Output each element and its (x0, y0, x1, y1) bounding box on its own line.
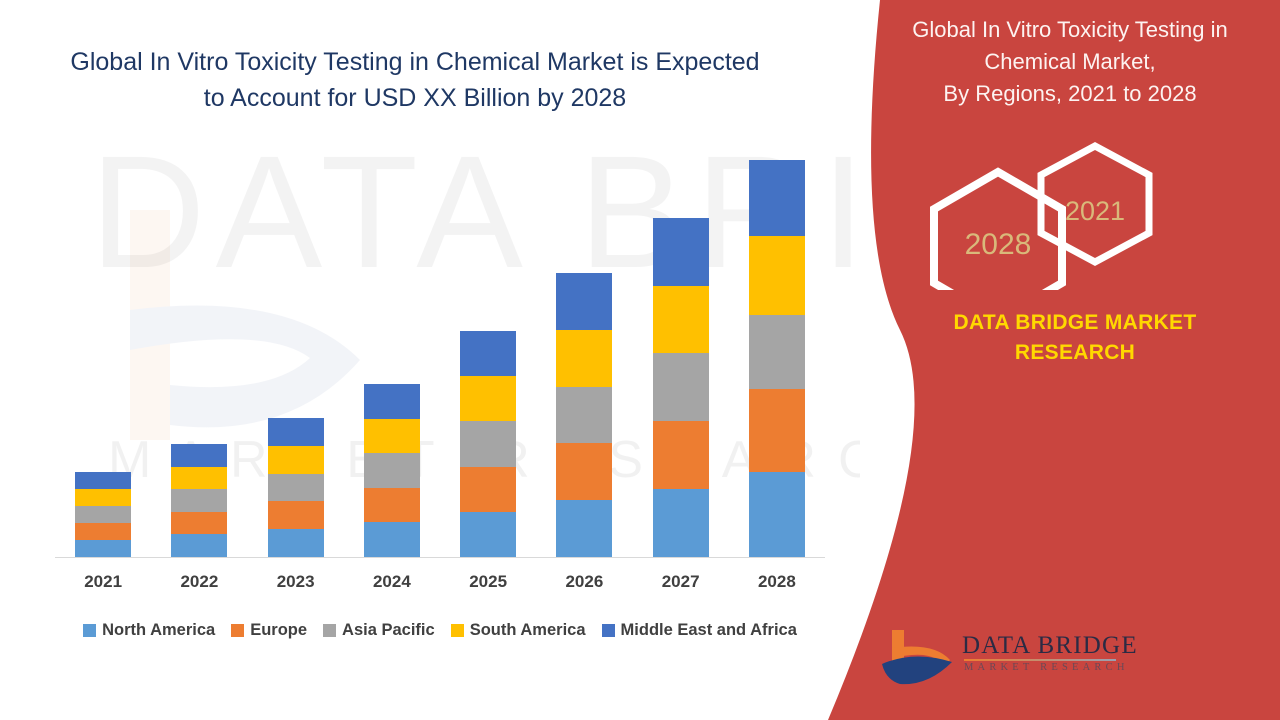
chart-title: Global In Vitro Toxicity Testing in Chem… (55, 44, 775, 116)
chart-title-line-2: to Account for USD XX Billion by 2028 (204, 84, 626, 112)
bar-segment[interactable] (653, 286, 709, 354)
bar-segment[interactable] (75, 489, 131, 506)
bar-segment[interactable] (653, 353, 709, 421)
legend-label: North America (102, 621, 215, 640)
brand-line-2: RESEARCH (1015, 341, 1135, 364)
x-axis-label-2026: 2026 (536, 572, 632, 600)
bar-column-2026 (536, 150, 632, 557)
hexagon-left-label: 2028 (965, 228, 1032, 261)
bar-column-2028 (729, 150, 825, 557)
hexagon-pair-icon: 2021 2028 (920, 140, 1240, 290)
legend-label: South America (470, 621, 586, 640)
brand-name: DATA BRIDGE MARKET RESEARCH (910, 308, 1240, 368)
stacked-bar-2023[interactable] (268, 418, 324, 557)
bar-segment[interactable] (556, 273, 612, 330)
stacked-bar-2025[interactable] (460, 331, 516, 557)
bar-segment[interactable] (460, 512, 516, 557)
stacked-bar-2024[interactable] (364, 384, 420, 557)
x-axis-label-2025: 2025 (440, 572, 536, 600)
legend-item-north-america[interactable]: North America (83, 621, 215, 640)
bar-segment[interactable] (556, 330, 612, 387)
bar-segment[interactable] (460, 421, 516, 466)
bar-segment[interactable] (556, 387, 612, 444)
bar-segment[interactable] (364, 488, 420, 523)
x-axis-label-2021: 2021 (55, 572, 151, 600)
bar-segment[interactable] (749, 472, 805, 557)
x-axis-line (55, 557, 825, 558)
hexagon-right-label: 2021 (1065, 196, 1125, 226)
chart-title-line-1: Global In Vitro Toxicity Testing in Chem… (70, 48, 759, 76)
side-title-line-3: By Regions, 2021 to 2028 (943, 81, 1196, 106)
bar-segment[interactable] (653, 421, 709, 489)
x-axis-label-2027: 2027 (633, 572, 729, 600)
x-axis-label-2022: 2022 (151, 572, 247, 600)
stacked-bar-2028[interactable] (749, 160, 805, 557)
bar-column-2023 (248, 150, 344, 557)
bar-segment[interactable] (556, 500, 612, 557)
stacked-bar-2022[interactable] (171, 444, 227, 557)
legend-swatch-icon (83, 624, 96, 637)
stacked-bar-2021[interactable] (75, 472, 131, 557)
bar-segment[interactable] (460, 376, 516, 421)
logo-tagline: MARKET RESEARCH (964, 662, 1129, 673)
bar-segment[interactable] (268, 446, 324, 474)
bar-segment[interactable] (75, 523, 131, 540)
legend-item-europe[interactable]: Europe (231, 621, 307, 640)
bar-segment[interactable] (171, 444, 227, 467)
bar-segment[interactable] (75, 540, 131, 557)
x-axis-label-2028: 2028 (729, 572, 825, 600)
logo-divider (964, 659, 1116, 661)
chart-panel: Global In Vitro Toxicity Testing in Chem… (0, 0, 860, 720)
bar-segment[interactable] (268, 474, 324, 502)
stacked-bar-2027[interactable] (653, 218, 709, 557)
bar-segment[interactable] (268, 418, 324, 446)
bar-segment[interactable] (749, 236, 805, 315)
legend-item-middle-east-and-africa[interactable]: Middle East and Africa (602, 621, 797, 640)
slide-canvas: DATA BRIDGE MARKET RESEARCH Global In Vi… (0, 0, 1280, 720)
bar-segment[interactable] (460, 467, 516, 512)
bar-segment[interactable] (171, 512, 227, 535)
bar-segment[interactable] (460, 331, 516, 376)
bar-group (55, 150, 825, 557)
data-bridge-logo-icon (880, 628, 956, 690)
legend-label: Europe (250, 621, 307, 640)
legend-label: Middle East and Africa (621, 621, 797, 640)
logo-wordmark: DATA BRIDGE (962, 632, 1138, 660)
x-axis-labels: 20212022202320242025202620272028 (55, 572, 825, 600)
bar-segment[interactable] (75, 506, 131, 523)
chart-legend: North AmericaEuropeAsia PacificSouth Ame… (55, 617, 825, 643)
bar-segment[interactable] (364, 522, 420, 557)
bar-segment[interactable] (653, 489, 709, 557)
bar-segment[interactable] (364, 384, 420, 419)
legend-swatch-icon (323, 624, 336, 637)
stacked-bar-2026[interactable] (556, 273, 612, 557)
legend-item-asia-pacific[interactable]: Asia Pacific (323, 621, 435, 640)
legend-swatch-icon (602, 624, 615, 637)
bar-segment[interactable] (171, 467, 227, 490)
bar-column-2025 (440, 150, 536, 557)
bar-column-2022 (151, 150, 247, 557)
side-title-line-2: Chemical Market, (984, 49, 1155, 74)
brand-side-content: Global In Vitro Toxicity Testing in Chem… (820, 0, 1280, 720)
side-panel-title: Global In Vitro Toxicity Testing in Chem… (880, 14, 1260, 110)
bar-segment[interactable] (749, 315, 805, 389)
bar-segment[interactable] (75, 472, 131, 489)
bar-column-2027 (633, 150, 729, 557)
bar-column-2024 (344, 150, 440, 557)
x-axis-label-2024: 2024 (344, 572, 440, 600)
bar-segment[interactable] (556, 443, 612, 500)
bar-column-2021 (55, 150, 151, 557)
bar-segment[interactable] (171, 489, 227, 512)
x-axis-label-2023: 2023 (248, 572, 344, 600)
brand-line-1: DATA BRIDGE MARKET (954, 311, 1197, 334)
legend-swatch-icon (451, 624, 464, 637)
bar-segment[interactable] (364, 419, 420, 454)
bar-segment[interactable] (364, 453, 420, 488)
side-title-line-1: Global In Vitro Toxicity Testing in (912, 17, 1228, 42)
bar-segment[interactable] (749, 389, 805, 472)
bar-segment[interactable] (268, 529, 324, 557)
bar-segment[interactable] (749, 160, 805, 236)
legend-label: Asia Pacific (342, 621, 435, 640)
year-hexagons: 2021 2028 (920, 140, 1240, 290)
legend-swatch-icon (231, 624, 244, 637)
legend-item-south-america[interactable]: South America (451, 621, 586, 640)
bar-segment[interactable] (653, 218, 709, 286)
company-logo: DATA BRIDGE MARKET RESEARCH (880, 628, 1140, 700)
bar-segment[interactable] (268, 501, 324, 529)
bar-segment[interactable] (171, 534, 227, 557)
